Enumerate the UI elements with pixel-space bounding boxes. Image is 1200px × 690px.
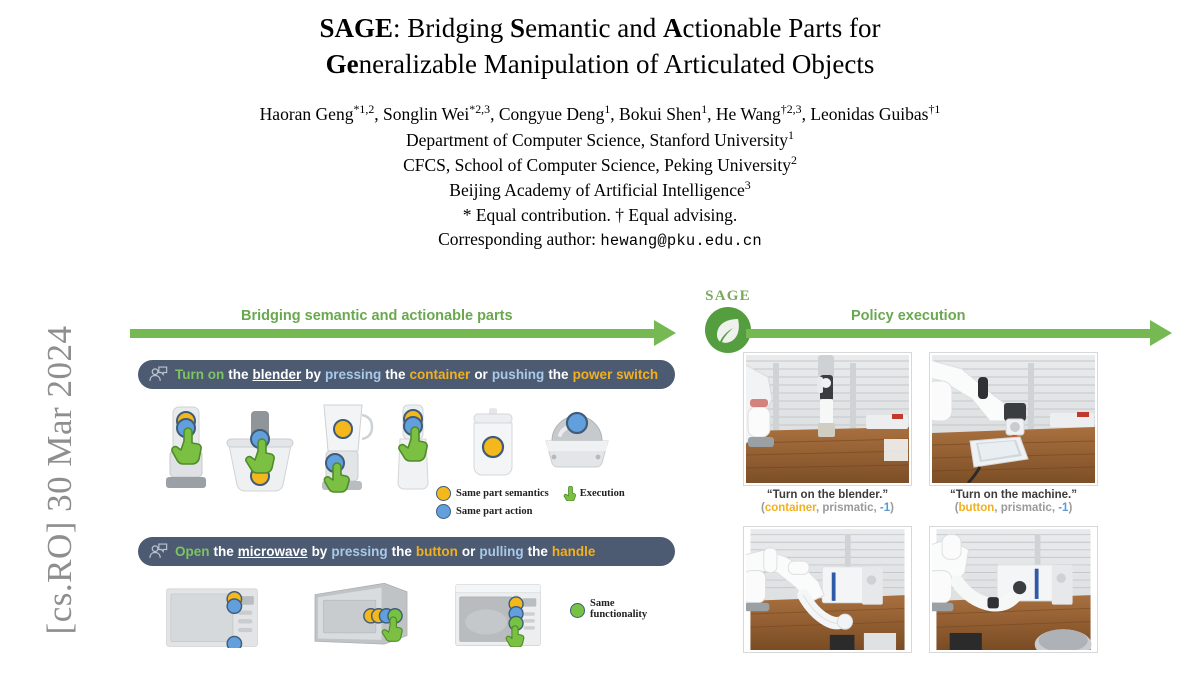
green-dot-icon bbox=[570, 603, 585, 618]
author-2: Songlin Wei bbox=[383, 104, 469, 124]
microwave-object bbox=[822, 567, 883, 605]
orange-dot-icon bbox=[436, 486, 451, 501]
container-illustration bbox=[462, 407, 524, 481]
affiliation-2-sup: 2 bbox=[791, 153, 797, 167]
microwave-illustration-2 bbox=[290, 579, 432, 647]
paren-close-2: ) bbox=[1068, 502, 1072, 514]
photo-1-part: container bbox=[765, 502, 816, 514]
right-arrow-head bbox=[1150, 320, 1172, 346]
author-5-sup: †2,3 bbox=[781, 102, 802, 116]
author-block: Haoran Geng*1,2, Songlin Wei*2,3, Congyu… bbox=[0, 101, 1200, 253]
affiliation-1: Department of Computer Science, Stanford… bbox=[0, 127, 1200, 152]
corresponding-author: Corresponding author: hewang@pku.edu.cn bbox=[0, 227, 1200, 253]
photo-2-joint: prismatic bbox=[1001, 502, 1052, 514]
author-2-sep: , bbox=[490, 104, 499, 124]
legend-functionality: Same functionality bbox=[570, 598, 647, 623]
legend-item-semantics: Same part semantics bbox=[436, 486, 549, 501]
legend-item-functionality: Same functionality bbox=[570, 598, 647, 620]
photo-subcaption-1: (container, prismatic, -1) bbox=[744, 502, 911, 514]
execution-photo-card-2: “Turn on the machine.” (button, prismati… bbox=[930, 353, 1097, 514]
affiliation-2: CFCS, School of Computer Science, Peking… bbox=[0, 152, 1200, 177]
sage-logo-text: SAGE bbox=[693, 288, 763, 305]
blender-illustration-2 bbox=[215, 409, 305, 493]
photo-2-part: button bbox=[959, 502, 995, 514]
hand-cursor-icon bbox=[563, 486, 576, 501]
banner2-the2: the bbox=[392, 544, 412, 559]
title-line1-b: : Bridging bbox=[393, 13, 510, 43]
leaf-icon bbox=[714, 316, 742, 344]
legend-functionality-line1: Same bbox=[590, 598, 647, 609]
paper-header: SAGE: Bridging Semantic and Actionable P… bbox=[0, 0, 1200, 253]
banner1-the3: the bbox=[548, 367, 568, 382]
banner1-the2: the bbox=[385, 367, 405, 382]
banner1-object: blender bbox=[252, 367, 301, 382]
author-2-sup: *2,3 bbox=[469, 102, 490, 116]
dome-switch-icon bbox=[540, 401, 614, 473]
legend-semantics-label: Same part semantics bbox=[456, 488, 549, 499]
author-3-sep: , bbox=[610, 104, 619, 124]
legend-item-execution: Execution bbox=[563, 486, 625, 501]
title-line1-c: S bbox=[510, 13, 525, 43]
execution-photo-card-3 bbox=[744, 527, 911, 652]
microwave-illustration-3 bbox=[435, 583, 561, 647]
author-6-sup: †1 bbox=[928, 102, 940, 116]
photo-1-direction: -1 bbox=[880, 502, 890, 514]
affiliation-3-text: Beijing Academy of Artificial Intelligen… bbox=[449, 180, 744, 200]
robot-blender-photo bbox=[744, 353, 911, 485]
robot-microwave-photo-2 bbox=[930, 527, 1097, 652]
chopper-icon bbox=[215, 409, 305, 493]
sage-logo: SAGE bbox=[693, 288, 763, 353]
banner2-the1: the bbox=[214, 544, 234, 559]
banner1-or: or bbox=[474, 367, 488, 382]
author-6: Leonidas Guibas bbox=[810, 104, 928, 124]
photo-2-direction: -1 bbox=[1058, 502, 1068, 514]
page-title: SAGE: Bridging Semantic and Actionable P… bbox=[0, 0, 1200, 82]
photo-caption-1: “Turn on the blender.” bbox=[744, 489, 911, 501]
banner2-verb1: pressing bbox=[331, 544, 387, 559]
banner2-part2: handle bbox=[552, 544, 596, 559]
affiliation-1-text: Department of Computer Science, Stanford… bbox=[406, 130, 788, 150]
blender-illustration-3 bbox=[306, 399, 376, 495]
author-5: He Wang bbox=[716, 104, 781, 124]
right-arrow-bar bbox=[746, 329, 1151, 338]
banner1-part1: container bbox=[410, 367, 471, 382]
photo-caption-2: “Turn on the machine.” bbox=[930, 489, 1097, 501]
banner2-part1: button bbox=[416, 544, 458, 559]
author-3: Congyue Deng bbox=[499, 104, 604, 124]
user-speech-icon bbox=[148, 542, 168, 562]
banner2-or: or bbox=[462, 544, 476, 559]
legend-action-label: Same part action bbox=[456, 506, 532, 517]
right-arrow-label: Policy execution bbox=[851, 308, 965, 324]
affiliation-3-sup: 3 bbox=[745, 178, 751, 192]
teaser-figure: Bridging semantic and actionable parts S… bbox=[0, 283, 1200, 648]
paren-close-1: ) bbox=[890, 502, 894, 514]
banner1-verb1: pressing bbox=[325, 367, 381, 382]
corresponding-label: Corresponding author: bbox=[438, 229, 600, 249]
banner2-verb2: pulling bbox=[479, 544, 523, 559]
banner2-by: by bbox=[312, 544, 328, 559]
author-names: Haoran Geng*1,2, Songlin Wei*2,3, Congyu… bbox=[0, 101, 1200, 126]
banner1-action: Turn on bbox=[175, 367, 224, 382]
photo-subcaption-2: (button, prismatic, -1) bbox=[930, 502, 1097, 514]
photo-1-joint: prismatic bbox=[822, 502, 873, 514]
execution-photo-card-4 bbox=[930, 527, 1097, 652]
legend-functionality-text: Same functionality bbox=[590, 598, 647, 620]
user-speech-icon bbox=[148, 365, 168, 385]
instruction-banner-blender: Turn on the blender by pressing the cont… bbox=[138, 360, 675, 389]
blender-jar-icon bbox=[306, 399, 376, 495]
execution-photo-card-1: “Turn on the blender.” (container, prism… bbox=[744, 353, 911, 514]
robot-machine-photo bbox=[930, 353, 1097, 485]
banner2-action: Open bbox=[175, 544, 210, 559]
power-switch-illustration bbox=[540, 401, 614, 473]
blender-bottle-icon bbox=[384, 401, 442, 493]
microwave-icon bbox=[147, 586, 277, 648]
banner2-object: microwave bbox=[238, 544, 308, 559]
banner1-part2: power switch bbox=[573, 367, 659, 382]
left-arrow-bar bbox=[130, 329, 655, 338]
robot-microwave-photo-1 bbox=[744, 527, 911, 652]
title-line1-d: emantic and bbox=[525, 13, 663, 43]
affiliation-2-text: CFCS, School of Computer Science, Peking… bbox=[403, 155, 791, 175]
legend-functionality-line2: functionality bbox=[590, 609, 647, 620]
jar-container-icon bbox=[462, 407, 524, 481]
legend-execution-label: Execution bbox=[580, 488, 625, 499]
title-sage: SAGE bbox=[320, 13, 394, 43]
blue-dot-icon bbox=[436, 504, 451, 519]
microwave-open-icon bbox=[435, 583, 561, 647]
author-1-sep: , bbox=[374, 104, 383, 124]
instruction-banner-microwave: Open the microwave by pressing the butto… bbox=[138, 537, 675, 566]
author-4-sep: , bbox=[707, 104, 716, 124]
author-4: Bokui Shen bbox=[619, 104, 701, 124]
microwave-illustration-1 bbox=[147, 586, 277, 648]
blender-bullet-icon bbox=[148, 401, 224, 493]
microwave-angled-icon bbox=[290, 579, 432, 647]
banner1-verb2: pushing bbox=[492, 367, 545, 382]
blender-illustration-1 bbox=[148, 401, 224, 493]
left-arrow-head bbox=[654, 320, 676, 346]
title-line1-e: A bbox=[663, 13, 683, 43]
title-line1-f: ctionable Parts for bbox=[683, 13, 881, 43]
author-footnote: * Equal contribution. † Equal advising. bbox=[0, 203, 1200, 228]
left-arrow-label: Bridging semantic and actionable parts bbox=[241, 308, 513, 324]
affiliation-1-sup: 1 bbox=[788, 128, 794, 142]
author-1-sup: *1,2 bbox=[353, 102, 374, 116]
author-1: Haoran Geng bbox=[260, 104, 354, 124]
affiliation-3: Beijing Academy of Artificial Intelligen… bbox=[0, 177, 1200, 202]
legend-item-action: Same part action bbox=[436, 504, 549, 519]
corresponding-email: hewang@pku.edu.cn bbox=[600, 232, 762, 250]
sage-logo-circle bbox=[705, 307, 751, 353]
banner1-by: by bbox=[305, 367, 321, 382]
banner1-the1: the bbox=[228, 367, 248, 382]
legend-part-markers: Same part semantics Same part action Exe… bbox=[436, 486, 625, 522]
title-line2-a: Ge bbox=[326, 49, 359, 79]
title-line2-b: neralizable Manipulation of Articulated … bbox=[359, 49, 875, 79]
blender-illustration-4 bbox=[384, 401, 442, 493]
banner2-the3: the bbox=[528, 544, 548, 559]
